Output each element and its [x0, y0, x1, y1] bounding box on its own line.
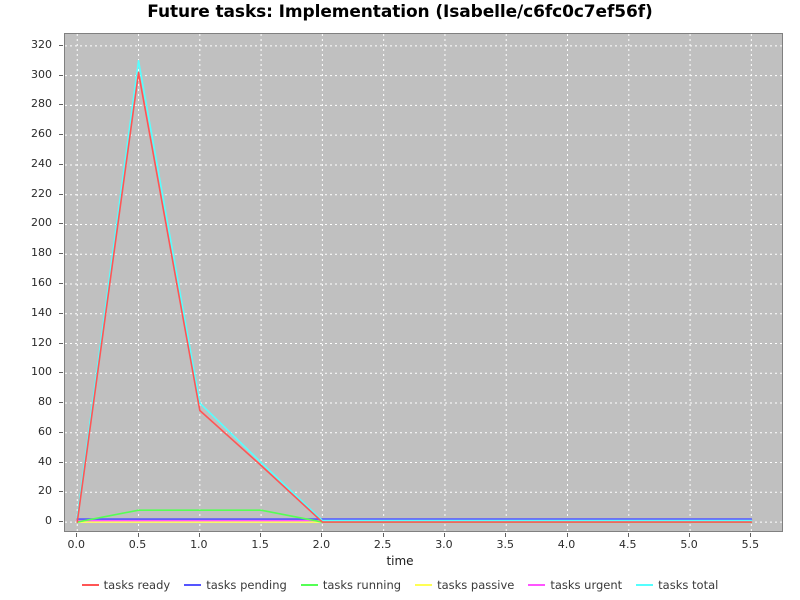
x-tick-label: 3.5	[475, 538, 535, 551]
y-tick-mark	[59, 134, 63, 135]
legend-label: tasks ready	[104, 578, 171, 592]
y-tick-label: 0	[0, 514, 52, 527]
x-tick-mark	[199, 533, 200, 537]
y-tick-mark	[59, 343, 63, 344]
y-tick-mark	[59, 164, 63, 165]
legend-item[interactable]: tasks total	[636, 578, 718, 592]
legend-label: tasks running	[323, 578, 401, 592]
legend-label: tasks pending	[206, 578, 287, 592]
y-tick-mark	[59, 223, 63, 224]
x-tick-mark	[321, 533, 322, 537]
legend-item[interactable]: tasks ready	[82, 578, 171, 592]
chart-legend: tasks readytasks pendingtasks runningtas…	[0, 578, 800, 592]
y-tick-label: 100	[0, 365, 52, 378]
x-axis-label: time	[0, 554, 800, 568]
y-tick-label: 320	[0, 38, 52, 51]
x-tick-label: 4.0	[537, 538, 597, 551]
gridlines	[65, 34, 782, 531]
y-tick-mark	[59, 372, 63, 373]
y-tick-label: 280	[0, 97, 52, 110]
y-tick-mark	[59, 521, 63, 522]
legend-label: tasks total	[658, 578, 718, 592]
x-tick-mark	[383, 533, 384, 537]
series-line	[77, 73, 751, 522]
legend-swatch-icon	[636, 584, 653, 586]
y-axis-label: value	[0, 237, 2, 270]
legend-item[interactable]: tasks running	[301, 578, 401, 592]
y-tick-label: 40	[0, 455, 52, 468]
x-tick-mark	[628, 533, 629, 537]
y-tick-mark	[59, 45, 63, 46]
y-tick-mark	[59, 194, 63, 195]
y-tick-label: 260	[0, 127, 52, 140]
x-tick-mark	[76, 533, 77, 537]
x-tick-label: 3.0	[414, 538, 474, 551]
legend-swatch-icon	[301, 584, 318, 586]
x-tick-label: 5.5	[720, 538, 780, 551]
legend-item[interactable]: tasks pending	[184, 578, 287, 592]
y-tick-mark	[59, 313, 63, 314]
x-tick-mark	[138, 533, 139, 537]
x-tick-mark	[689, 533, 690, 537]
x-tick-label: 1.5	[230, 538, 290, 551]
x-tick-label: 2.0	[291, 538, 351, 551]
x-tick-label: 0.5	[108, 538, 168, 551]
y-tick-label: 200	[0, 216, 52, 229]
y-tick-label: 180	[0, 246, 52, 259]
y-tick-label: 160	[0, 276, 52, 289]
legend-label: tasks urgent	[550, 578, 622, 592]
legend-swatch-icon	[82, 584, 99, 586]
y-tick-label: 80	[0, 395, 52, 408]
y-tick-label: 20	[0, 484, 52, 497]
y-tick-mark	[59, 283, 63, 284]
legend-item[interactable]: tasks urgent	[528, 578, 622, 592]
legend-swatch-icon	[415, 584, 432, 586]
y-tick-label: 120	[0, 336, 52, 349]
x-tick-mark	[750, 533, 751, 537]
y-tick-label: 240	[0, 157, 52, 170]
legend-label: tasks passive	[437, 578, 514, 592]
y-tick-label: 220	[0, 187, 52, 200]
legend-swatch-icon	[528, 584, 545, 586]
y-tick-label: 300	[0, 68, 52, 81]
y-tick-label: 60	[0, 425, 52, 438]
chart-title: Future tasks: Implementation (Isabelle/c…	[0, 2, 800, 22]
x-tick-label: 5.0	[659, 538, 719, 551]
y-tick-mark	[59, 491, 63, 492]
x-tick-mark	[567, 533, 568, 537]
data-series-group	[77, 61, 751, 522]
x-tick-mark	[260, 533, 261, 537]
x-tick-mark	[444, 533, 445, 537]
plot-area	[64, 33, 783, 532]
plot-svg	[65, 34, 782, 531]
y-tick-mark	[59, 402, 63, 403]
y-tick-mark	[59, 462, 63, 463]
chart-container: Future tasks: Implementation (Isabelle/c…	[0, 0, 800, 600]
x-tick-label: 2.5	[353, 538, 413, 551]
x-tick-label: 4.5	[598, 538, 658, 551]
legend-item[interactable]: tasks passive	[415, 578, 514, 592]
x-tick-label: 1.0	[169, 538, 229, 551]
y-tick-mark	[59, 432, 63, 433]
y-tick-mark	[59, 253, 63, 254]
y-tick-label: 140	[0, 306, 52, 319]
x-tick-label: 0.0	[46, 538, 106, 551]
x-tick-mark	[505, 533, 506, 537]
y-tick-mark	[59, 104, 63, 105]
y-tick-mark	[59, 75, 63, 76]
legend-swatch-icon	[184, 584, 201, 586]
